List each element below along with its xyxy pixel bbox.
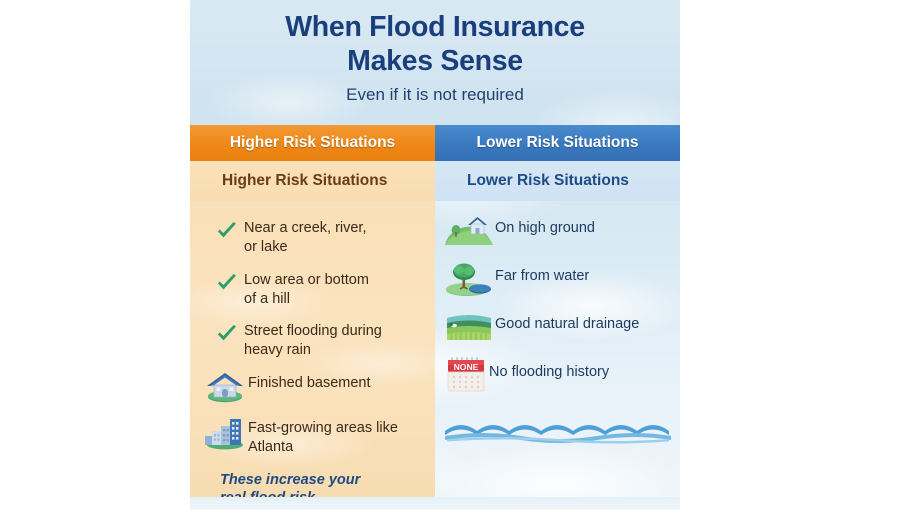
list-item: NONE bbox=[443, 358, 670, 392]
list-item: Finished basement bbox=[202, 369, 425, 403]
list-item-label: Low area or bottom of a hill bbox=[244, 266, 369, 309]
card-bottom-strip bbox=[190, 497, 680, 510]
list-item-label: Fast-growing areas like Atlanta bbox=[248, 414, 398, 457]
tree-and-pond-icon bbox=[443, 262, 495, 296]
house-on-hill-icon bbox=[443, 214, 495, 248]
primary-header-band: Higher Risk Situations Lower Risk Situat… bbox=[190, 125, 680, 161]
blue-wave-icon bbox=[443, 415, 673, 449]
calendar-none-icon: NONE bbox=[443, 358, 489, 392]
primary-header-lower-risk: Lower Risk Situations bbox=[435, 125, 680, 161]
list-item-label: Far from water bbox=[495, 262, 589, 286]
title-block: When Flood Insurance Makes Sense Even if… bbox=[190, 0, 680, 125]
list-item: Fast-growing areas like Atlanta bbox=[202, 414, 425, 457]
lower-risk-panel: On high ground bbox=[435, 201, 680, 497]
list-item-label: No flooding history bbox=[489, 358, 609, 382]
secondary-header-lower-risk: Lower Risk Situations bbox=[435, 161, 680, 201]
higher-risk-panel: Near a creek, river, or lake Low area or… bbox=[190, 201, 435, 497]
page-title: When Flood Insurance Makes Sense bbox=[190, 0, 680, 78]
list-item-label: Near a creek, river, or lake bbox=[244, 214, 367, 257]
list-item-label: On high ground bbox=[495, 214, 595, 238]
infographic-card: When Flood Insurance Makes Sense Even if… bbox=[190, 0, 680, 510]
primary-header-higher-risk: Higher Risk Situations bbox=[190, 125, 435, 161]
screenshot-stage: When Flood Insurance Makes Sense Even if… bbox=[0, 0, 920, 517]
list-item: On high ground bbox=[443, 214, 670, 248]
list-item: Good natural drainage bbox=[443, 310, 670, 344]
list-item: Street flooding during heavy rain bbox=[202, 317, 425, 360]
calendar-none-text: NONE bbox=[454, 362, 479, 372]
list-item: Far from water bbox=[443, 262, 670, 296]
list-item-label: Finished basement bbox=[248, 369, 371, 393]
green-check-icon bbox=[210, 214, 244, 248]
list-item: Near a creek, river, or lake bbox=[202, 214, 425, 257]
list-item-label: Good natural drainage bbox=[495, 310, 639, 334]
green-check-icon bbox=[210, 317, 244, 351]
city-buildings-icon bbox=[202, 414, 248, 448]
list-item-label: Street flooding during heavy rain bbox=[244, 317, 382, 360]
list-item: Low area or bottom of a hill bbox=[202, 266, 425, 309]
house-icon bbox=[202, 369, 248, 403]
green-check-icon bbox=[210, 266, 244, 300]
secondary-header-higher-risk: Higher Risk Situations bbox=[190, 161, 435, 201]
secondary-header-band: Higher Risk Situations Lower Risk Situat… bbox=[190, 161, 680, 201]
comparison-panels: Near a creek, river, or lake Low area or… bbox=[190, 201, 680, 497]
drainage-field-icon bbox=[443, 310, 495, 344]
page-subtitle: Even if it is not required bbox=[190, 78, 680, 105]
